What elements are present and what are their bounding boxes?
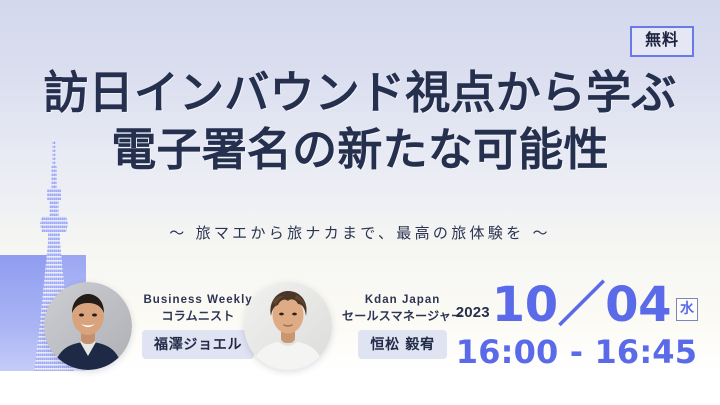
speaker-org: Business Weekly: [142, 293, 254, 309]
bottom-white-band: [0, 371, 720, 405]
speaker-role: セールスマネージャー: [342, 309, 463, 325]
avatar: [244, 282, 332, 370]
speaker-name: 恒松 毅宥: [358, 330, 446, 359]
speaker-card-1: Business Weekly コラムニスト 福澤ジョエル: [44, 282, 254, 370]
speaker-info-2: Kdan Japan セールスマネージャー 恒松 毅宥: [342, 293, 463, 358]
page-title: 訪日インバウンド視点から学ぶ 電子署名の新たな可能性: [0, 68, 720, 176]
event-day: 04: [605, 283, 671, 327]
title-line-1: 訪日インバウンド視点から学ぶ: [0, 68, 720, 118]
speaker-role: コラムニスト: [142, 309, 254, 325]
event-month: 10: [492, 283, 558, 327]
event-datetime: 2023 10 ／ 04 水 16:00 - 16:45: [456, 283, 698, 368]
speaker-org: Kdan Japan: [342, 293, 463, 309]
speaker-name: 福澤ジョエル: [142, 330, 254, 359]
event-time-range: 16:00 - 16:45: [456, 336, 698, 368]
date-separator: ／: [558, 283, 606, 327]
webinar-banner: 無料 訪日インバウンド視点から学ぶ 電子署名の新たな可能性 〜 旅マエから旅ナカ…: [0, 0, 720, 405]
speaker-name-wrap: 福澤ジョエル: [142, 325, 254, 359]
speaker-name-wrap: 恒松 毅宥: [342, 325, 463, 359]
event-day-of-week: 水: [676, 298, 698, 321]
speaker-card-2: Kdan Japan セールスマネージャー 恒松 毅宥: [244, 282, 463, 370]
free-badge: 無料: [630, 26, 694, 57]
event-date-line: 2023 10 ／ 04 水: [456, 283, 698, 327]
event-year: 2023: [456, 304, 490, 321]
title-line-2: 電子署名の新たな可能性: [0, 125, 720, 175]
speaker-info-1: Business Weekly コラムニスト 福澤ジョエル: [142, 293, 254, 358]
subtitle: 〜 旅マエから旅ナカまで、最高の旅体験を 〜: [0, 222, 720, 243]
avatar: [44, 282, 132, 370]
